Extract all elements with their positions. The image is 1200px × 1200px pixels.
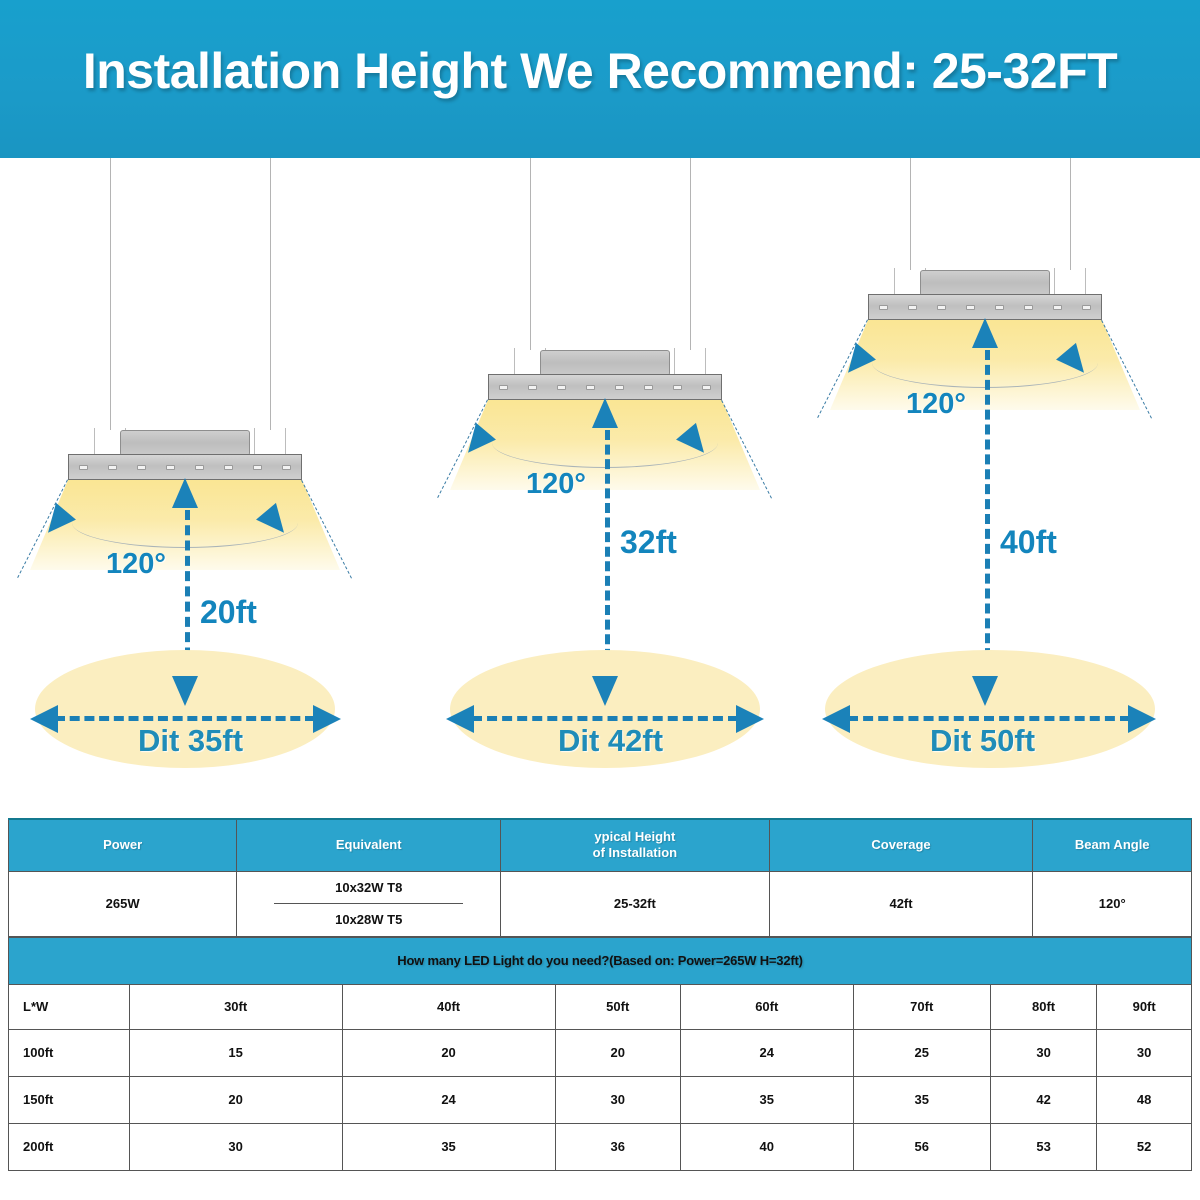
coverage-arrow-right — [736, 705, 764, 733]
led-dot — [937, 305, 946, 310]
led-dot — [702, 385, 711, 390]
tables-section: Power Equivalent ypical Height of Instal… — [8, 818, 1192, 1171]
led-count-title-row: How many LED Light do you need?(Based on… — [9, 937, 1192, 984]
led-count-table: How many LED Light do you need?(Based on… — [8, 937, 1192, 1171]
led-count-header-row: L*W 30ft 40ft 50ft 60ft 70ft 80ft 90ft — [9, 984, 1192, 1029]
led-dot — [966, 305, 975, 310]
beam-center-arrow-up — [972, 318, 998, 348]
led-dot — [615, 385, 624, 390]
coverage-arrow-right — [1128, 705, 1156, 733]
led-count-cell: 15 — [129, 1029, 342, 1076]
led-dot — [195, 465, 204, 470]
fixture-led-bar — [868, 294, 1102, 320]
led-count-cell: 20 — [555, 1029, 680, 1076]
led-count-cell: 35 — [853, 1076, 990, 1123]
led-dot — [557, 385, 566, 390]
hanging-cable-left — [110, 158, 111, 430]
led-dot — [879, 305, 888, 310]
led-dot — [644, 385, 653, 390]
led-count-cell: 35 — [680, 1076, 853, 1123]
hanging-cable-right — [1070, 158, 1071, 270]
spec-header-beam-angle: Beam Angle — [1033, 819, 1192, 871]
spec-value-equivalent: 10x32W T8 10x28W T5 — [237, 871, 501, 936]
spec-data-row: 265W 10x32W T8 10x28W T5 25-32ft 42ft 12… — [9, 871, 1192, 936]
height-arrow-down — [972, 676, 998, 706]
beam-angle-label: 120° — [906, 388, 966, 421]
spec-value-beam-angle: 120° — [1033, 871, 1192, 936]
hanging-cable-left — [530, 158, 531, 350]
led-dot — [673, 385, 682, 390]
spec-header-coverage: Coverage — [769, 819, 1033, 871]
coverage-dashed-line — [472, 716, 738, 721]
led-dot — [1053, 305, 1062, 310]
led-count-header-lw: L*W — [9, 984, 130, 1029]
led-count-cell: 25 — [853, 1029, 990, 1076]
spec-header-row: Power Equivalent ypical Height of Instal… — [9, 819, 1192, 871]
beam-angle-label: 120° — [106, 548, 166, 581]
coverage-arrow-left — [446, 705, 474, 733]
led-count-cell: 48 — [1097, 1076, 1192, 1123]
spec-header-typical-height-line1: ypical Height — [502, 829, 768, 845]
led-dot — [282, 465, 291, 470]
cable-v-right — [674, 348, 706, 374]
led-count-header-70ft: 70ft — [853, 984, 990, 1029]
spec-header-typical-height-line2: of Installation — [502, 845, 768, 861]
spec-header-equivalent: Equivalent — [237, 819, 501, 871]
coverage-label: Dit 50ft — [930, 723, 1035, 759]
fixture-housing — [920, 270, 1050, 296]
led-count-cell: 36 — [555, 1123, 680, 1170]
led-dot — [108, 465, 117, 470]
led-count-cell: 24 — [342, 1076, 555, 1123]
mounting-height-label: 40ft — [1000, 524, 1057, 561]
height-arrow-down — [172, 676, 198, 706]
hanging-cable-right — [690, 158, 691, 350]
fixture-housing — [540, 350, 670, 376]
led-dot — [253, 465, 262, 470]
led-count-cell: 20 — [342, 1029, 555, 1076]
led-count-row-label: 150ft — [9, 1076, 130, 1123]
diagram-right: 120° 40ft Dit 50ft — [800, 158, 1200, 810]
led-dot — [528, 385, 537, 390]
led-count-cell: 24 — [680, 1029, 853, 1076]
spec-value-equivalent-t5: 10x28W T5 — [274, 904, 463, 936]
led-dot — [908, 305, 917, 310]
led-count-cell: 53 — [990, 1123, 1096, 1170]
coverage-dashed-line — [848, 716, 1130, 721]
cable-v-right — [254, 428, 286, 454]
height-arrow-down — [592, 676, 618, 706]
diagram-middle: 120° 32ft Dit 42ft — [400, 158, 800, 810]
beam-center-arrow-up — [592, 398, 618, 428]
fixture-led-bar — [68, 454, 302, 480]
led-count-cell: 30 — [990, 1029, 1096, 1076]
coverage-label: Dit 35ft — [138, 723, 243, 759]
led-dot — [79, 465, 88, 470]
table-row: 150ft 20 24 30 35 35 42 48 — [9, 1076, 1192, 1123]
led-dot — [166, 465, 175, 470]
led-dot — [499, 385, 508, 390]
spec-value-coverage: 42ft — [769, 871, 1033, 936]
led-dot — [224, 465, 233, 470]
fixture-led-bar — [488, 374, 722, 400]
led-count-cell: 30 — [1097, 1029, 1192, 1076]
led-count-cell: 35 — [342, 1123, 555, 1170]
spec-header-typical-height: ypical Height of Installation — [501, 819, 770, 871]
coverage-label: Dit 42ft — [558, 723, 663, 759]
mounting-height-label: 20ft — [200, 594, 257, 631]
header-banner: Installation Height We Recommend: 25-32F… — [0, 0, 1200, 158]
led-dot — [995, 305, 1004, 310]
table-row: 200ft 30 35 36 40 56 53 52 — [9, 1123, 1192, 1170]
led-count-header-40ft: 40ft — [342, 984, 555, 1029]
led-count-cell: 30 — [555, 1076, 680, 1123]
led-count-title: How many LED Light do you need?(Based on… — [9, 937, 1192, 984]
spec-value-power: 265W — [9, 871, 237, 936]
spec-value-equivalent-t8: 10x32W T8 — [274, 872, 463, 904]
table-row: 100ft 15 20 20 24 25 30 30 — [9, 1029, 1192, 1076]
fixture-housing — [120, 430, 250, 456]
hanging-cable-left — [910, 158, 911, 270]
specification-table: Power Equivalent ypical Height of Instal… — [8, 818, 1192, 937]
installation-diagrams: 120° 20ft Dit 35ft — [0, 158, 1200, 810]
equivalent-stack: 10x32W T8 10x28W T5 — [237, 872, 500, 936]
led-count-cell: 52 — [1097, 1123, 1192, 1170]
led-count-cell: 56 — [853, 1123, 990, 1170]
led-count-header-60ft: 60ft — [680, 984, 853, 1029]
led-dot — [1082, 305, 1091, 310]
led-count-cell: 42 — [990, 1076, 1096, 1123]
spec-value-typical-height: 25-32ft — [501, 871, 770, 936]
led-count-cell: 20 — [129, 1076, 342, 1123]
led-count-header-80ft: 80ft — [990, 984, 1096, 1029]
led-count-header-50ft: 50ft — [555, 984, 680, 1029]
led-dot — [137, 465, 146, 470]
beam-center-arrow-up — [172, 478, 198, 508]
hanging-cable-right — [270, 158, 271, 430]
spec-header-power: Power — [9, 819, 237, 871]
coverage-arrow-left — [822, 705, 850, 733]
cable-v-right — [1054, 268, 1086, 294]
led-count-cell: 40 — [680, 1123, 853, 1170]
led-count-row-label: 100ft — [9, 1029, 130, 1076]
coverage-arrow-right — [313, 705, 341, 733]
led-count-header-30ft: 30ft — [129, 984, 342, 1029]
led-count-cell: 30 — [129, 1123, 342, 1170]
page-title: Installation Height We Recommend: 25-32F… — [0, 42, 1200, 100]
beam-angle-label: 120° — [526, 468, 586, 501]
mounting-height-label: 32ft — [620, 524, 677, 561]
diagram-left: 120° 20ft Dit 35ft — [0, 158, 400, 810]
coverage-arrow-left — [30, 705, 58, 733]
height-dashed-line — [985, 350, 990, 688]
led-count-row-label: 200ft — [9, 1123, 130, 1170]
led-dot — [586, 385, 595, 390]
led-count-header-90ft: 90ft — [1097, 984, 1192, 1029]
coverage-dashed-line — [55, 716, 315, 721]
led-dot — [1024, 305, 1033, 310]
